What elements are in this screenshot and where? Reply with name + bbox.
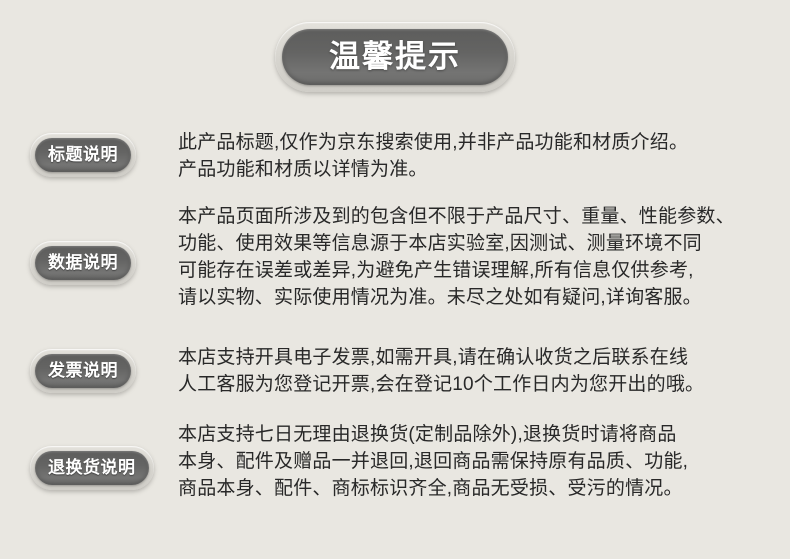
promo-notice-page: 温馨提示 标题说明 此产品标题,仅作为京东搜索使用,并非产品功能和材质介绍。 产… <box>0 0 790 559</box>
header-pill-frame: 温馨提示 <box>275 22 515 92</box>
badge-cell: 发票说明 <box>30 338 178 393</box>
section-badge-invoice-desc: 发票说明 <box>30 349 136 393</box>
section-body-data-desc: 本产品页面所涉及到的包含但不限于产品尺寸、重量、性能参数、 功能、使用效果等信息… <box>178 203 790 311</box>
badge-label: 标题说明 <box>35 138 131 172</box>
badge-label: 发票说明 <box>35 354 131 388</box>
badge-label: 退换货说明 <box>35 451 149 485</box>
badge-pill-frame: 发票说明 <box>30 349 136 393</box>
notice-row: 发票说明 本店支持开具电子发票,如需开具,请在确认收货之后联系在线 人工客服为您… <box>0 338 790 398</box>
notice-row: 退换货说明 本店支持七日无理由退换货(定制品除外),退换货时请将商品 本身、配件… <box>0 421 790 502</box>
notice-sections: 标题说明 此产品标题,仅作为京东搜索使用,并非产品功能和材质介绍。 产品功能和材… <box>0 122 790 502</box>
page-title: 温馨提示 <box>282 29 508 85</box>
section-badge-return-desc: 退换货说明 <box>30 446 154 490</box>
badge-label: 数据说明 <box>35 246 131 280</box>
section-badge-title-desc: 标题说明 <box>30 133 136 177</box>
notice-row: 标题说明 此产品标题,仅作为京东搜索使用,并非产品功能和材质介绍。 产品功能和材… <box>0 122 790 183</box>
header-banner: 温馨提示 <box>0 22 790 92</box>
badge-pill-frame: 数据说明 <box>30 241 136 285</box>
badge-cell: 退换货说明 <box>30 421 178 490</box>
badge-pill-frame: 标题说明 <box>30 133 136 177</box>
badge-cell: 数据说明 <box>30 203 178 285</box>
badge-cell: 标题说明 <box>30 122 178 177</box>
section-body-invoice-desc: 本店支持开具电子发票,如需开具,请在确认收货之后联系在线 人工客服为您登记开票,… <box>178 338 790 398</box>
notice-row: 数据说明 本产品页面所涉及到的包含但不限于产品尺寸、重量、性能参数、 功能、使用… <box>0 203 790 311</box>
section-body-return-desc: 本店支持七日无理由退换货(定制品除外),退换货时请将商品 本身、配件及赠品一并退… <box>178 421 790 502</box>
section-badge-data-desc: 数据说明 <box>30 241 136 285</box>
badge-pill-frame: 退换货说明 <box>30 446 154 490</box>
section-body-title-desc: 此产品标题,仅作为京东搜索使用,并非产品功能和材质介绍。 产品功能和材质以详情为… <box>178 122 790 183</box>
